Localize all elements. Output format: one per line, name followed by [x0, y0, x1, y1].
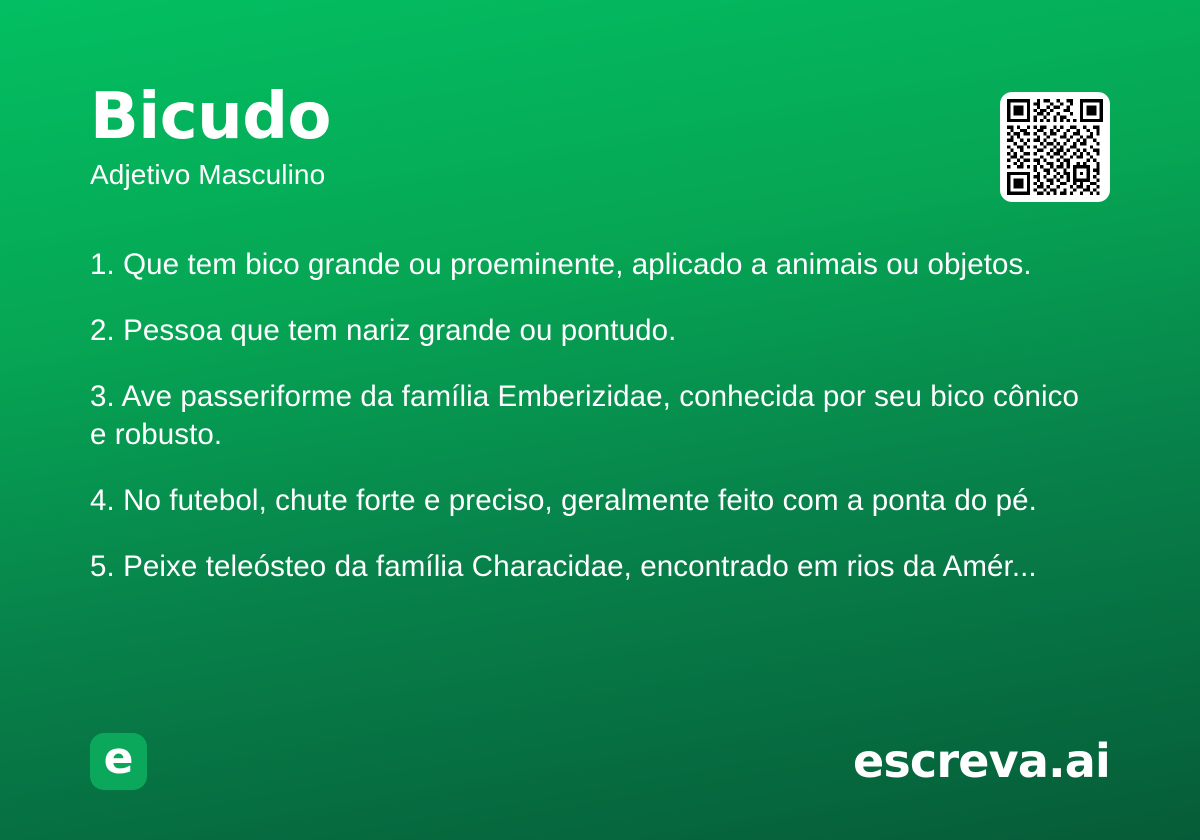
- definition-list: 1. Que tem bico grande ou proeminente, a…: [90, 246, 1090, 586]
- card-footer: e escreva.ai: [90, 732, 1110, 790]
- escreva-logo-icon[interactable]: e: [90, 733, 147, 790]
- heading-group: Bicudo Adjetivo Masculino: [90, 84, 331, 192]
- definition-item: 3. Ave passeriforme da família Emberizid…: [90, 378, 1090, 454]
- definition-item: 4. No futebol, chute forte e preciso, ge…: [90, 482, 1090, 520]
- brand-wordmark: escreva.ai: [853, 736, 1110, 786]
- card-header: Bicudo Adjetivo Masculino: [90, 84, 1110, 202]
- page-title: Bicudo: [90, 84, 331, 150]
- logo-letter: e: [104, 737, 134, 781]
- dictionary-card: Bicudo Adjetivo Masculino: [0, 0, 1200, 840]
- definition-item: 2. Pessoa que tem nariz grande ou pontud…: [90, 312, 1090, 350]
- qr-code-icon[interactable]: [1000, 92, 1110, 202]
- definition-item: 5. Peixe teleósteo da família Characidae…: [90, 548, 1090, 586]
- definition-item: 1. Que tem bico grande ou proeminente, a…: [90, 246, 1090, 284]
- word-class-label: Adjetivo Masculino: [90, 158, 331, 192]
